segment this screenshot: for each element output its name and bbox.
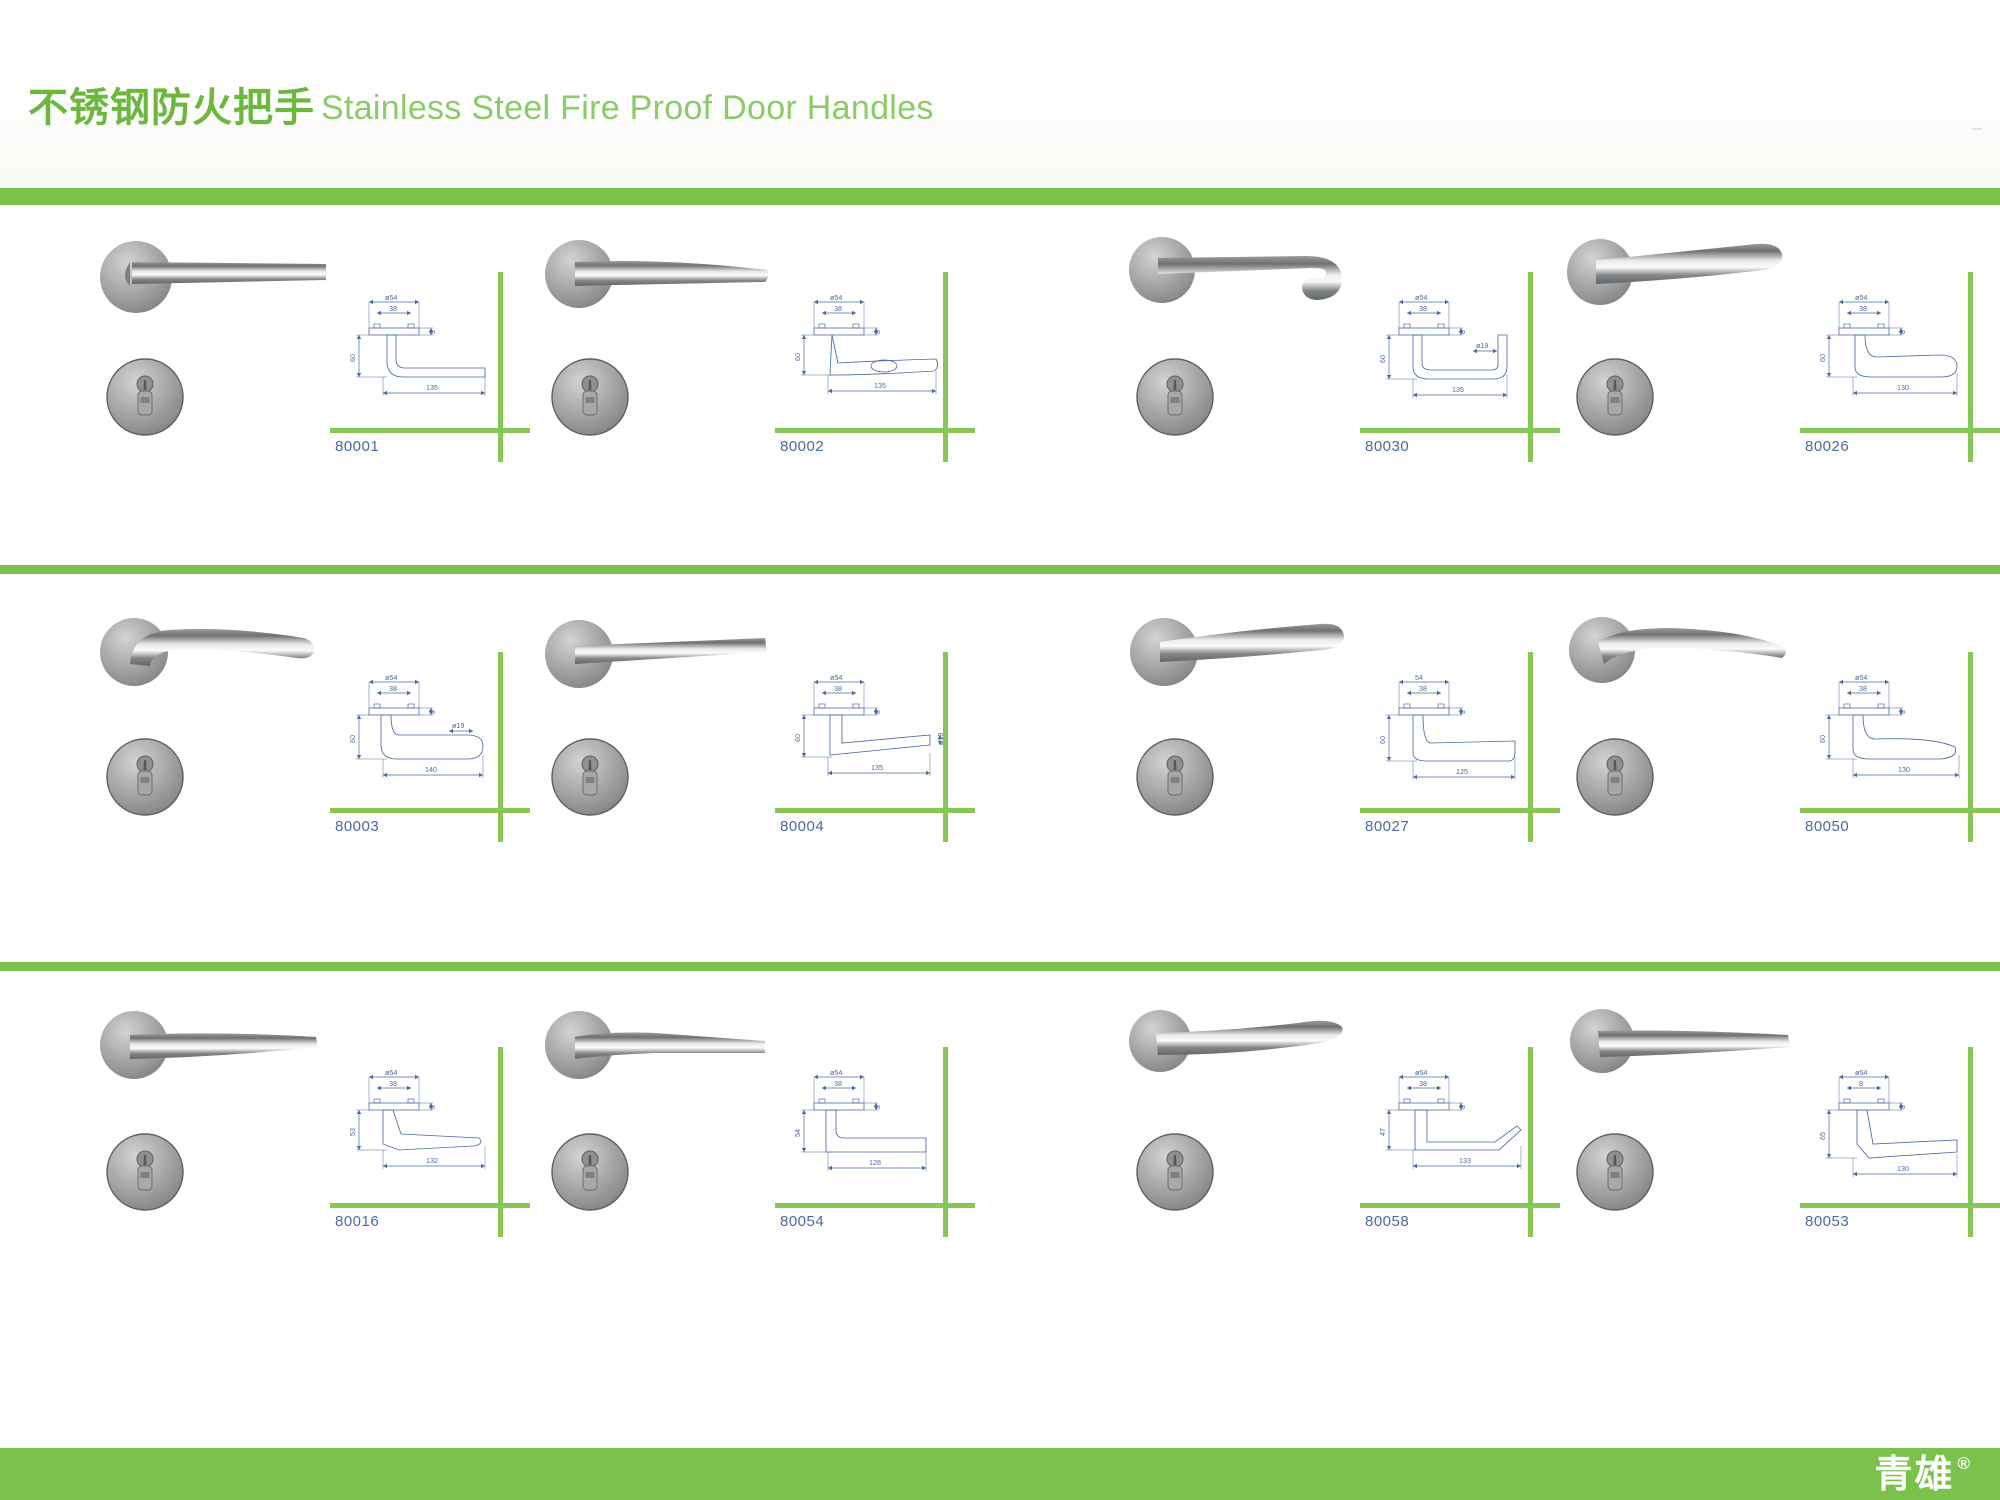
svg-text:8: 8 <box>1458 330 1467 334</box>
svg-text:140: 140 <box>425 765 437 774</box>
door-handle-lever-photo <box>90 602 330 712</box>
product-photo-group <box>1560 602 1800 832</box>
technical-drawing: ø548865130 <box>1805 1055 1980 1190</box>
svg-text:ø54: ø54 <box>385 1068 397 1077</box>
product-model-number: 80003 <box>335 818 379 835</box>
product-photo-group <box>90 997 330 1227</box>
product-card[interactable]: ø543886013080026 <box>1500 200 2000 580</box>
door-handle-lever-photo <box>535 997 775 1107</box>
svg-text:8: 8 <box>873 710 882 714</box>
product-model-number: 80050 <box>1805 818 1849 835</box>
registered-trademark-icon: ® <box>1957 1454 1970 1474</box>
product-photo-group <box>1560 997 1800 1227</box>
keyhole-escutcheon-photo <box>1120 722 1240 832</box>
svg-text:60: 60 <box>1378 355 1387 363</box>
svg-text:135: 135 <box>871 763 883 772</box>
keyhole-escutcheon-photo <box>1560 722 1680 832</box>
technical-drawing: ø5438860130 <box>1805 660 1980 795</box>
product-photo-group <box>535 997 775 1227</box>
svg-text:38: 38 <box>1419 304 1427 313</box>
drawing-frame-horizontal-rule <box>1800 808 2000 813</box>
svg-text:8: 8 <box>1458 710 1467 714</box>
technical-drawing: ø5438860135ø19 <box>780 660 955 795</box>
product-photo-group <box>535 602 775 832</box>
product-model-number: 80053 <box>1805 1213 1849 1230</box>
svg-text:ø54: ø54 <box>1415 293 1427 302</box>
svg-text:ø54: ø54 <box>830 293 842 302</box>
svg-text:133: 133 <box>1459 1156 1471 1165</box>
svg-text:60: 60 <box>793 734 802 742</box>
header-tick-mark <box>1972 128 1982 130</box>
product-photo-group <box>1560 222 1800 452</box>
drawing-frame-horizontal-rule <box>775 808 975 813</box>
product-model-number: 80030 <box>1365 438 1409 455</box>
svg-text:60: 60 <box>1818 354 1827 362</box>
svg-text:54: 54 <box>793 1129 802 1137</box>
product-row-1: ø543886013580001 <box>0 200 2000 580</box>
product-photo-group <box>90 602 330 832</box>
product-photo-group <box>535 222 775 452</box>
svg-text:ø54: ø54 <box>1855 1068 1867 1077</box>
product-card[interactable]: ø543886013080050 <box>1500 580 2000 960</box>
svg-text:130: 130 <box>1897 1164 1909 1173</box>
svg-text:135: 135 <box>874 381 886 390</box>
keyhole-escutcheon-photo <box>535 722 655 832</box>
product-card[interactable]: ø54388 6013580002 <box>475 200 975 580</box>
product-card[interactable]: ø543884713380058 <box>1060 975 1560 1355</box>
row-separator-2 <box>0 962 2000 971</box>
svg-text:54: 54 <box>1415 673 1423 682</box>
keyhole-escutcheon-photo <box>90 722 210 832</box>
page-title-chinese: 不锈钢防火把手 <box>28 86 315 130</box>
svg-text:60: 60 <box>793 353 802 361</box>
svg-text:8: 8 <box>873 1105 882 1109</box>
door-handle-lever-photo <box>1120 997 1360 1107</box>
product-card[interactable]: ø543886013580001 <box>30 200 530 580</box>
drawing-frame-vertical-rule <box>1968 272 1973 462</box>
drawing-frame-vertical-rule <box>1968 652 1973 842</box>
product-card[interactable]: ø5438860135ø1980004 <box>475 580 975 960</box>
svg-text:125: 125 <box>1456 767 1468 776</box>
technical-drawing: ø5438860130 <box>1805 280 1980 415</box>
page-footer <box>0 1448 2000 1500</box>
product-card[interactable]: ø5438860135ø1980030 <box>1060 200 1560 580</box>
product-card[interactable]: ø54886513080053 <box>1500 975 2000 1355</box>
product-model-number: 80027 <box>1365 818 1409 835</box>
svg-text:60: 60 <box>348 735 357 743</box>
page-title-english: Stainless Steel Fire Proof Door Handles <box>321 89 934 127</box>
svg-text:8: 8 <box>428 710 437 714</box>
product-card[interactable]: ø543885412880054 <box>475 975 975 1355</box>
brand-logo-text: 青雄 <box>1874 1455 1954 1493</box>
svg-text:38: 38 <box>389 1079 397 1088</box>
svg-text:65: 65 <box>1818 1132 1827 1140</box>
product-row-3: ø543885313280016 <box>0 975 2000 1355</box>
product-model-number: 80026 <box>1805 438 1849 455</box>
door-handle-lever-photo <box>535 222 775 332</box>
product-card[interactable]: ø5438860140ø1980003 <box>30 580 530 960</box>
product-photo-group <box>1120 222 1360 452</box>
svg-text:38: 38 <box>1859 684 1867 693</box>
svg-text:ø19: ø19 <box>1476 341 1488 350</box>
svg-text:ø54: ø54 <box>1855 673 1867 682</box>
drawing-frame-horizontal-rule <box>1800 428 2000 433</box>
svg-text:60: 60 <box>1818 735 1827 743</box>
svg-text:ø54: ø54 <box>830 1068 842 1077</box>
keyhole-escutcheon-photo <box>90 1117 210 1227</box>
svg-text:ø54: ø54 <box>385 673 397 682</box>
svg-text:8: 8 <box>428 330 437 334</box>
keyhole-escutcheon-photo <box>1560 342 1680 452</box>
svg-text:135: 135 <box>426 383 438 392</box>
svg-text:60: 60 <box>1378 736 1387 744</box>
svg-text:8: 8 <box>1859 1079 1863 1088</box>
svg-text:8: 8 <box>1898 1105 1907 1109</box>
keyhole-escutcheon-photo <box>535 342 655 452</box>
svg-text:ø54: ø54 <box>1855 293 1867 302</box>
product-card[interactable]: ø543885313280016 <box>30 975 530 1355</box>
svg-text:60: 60 <box>348 354 357 362</box>
product-model-number: 80004 <box>780 818 824 835</box>
svg-text:ø19: ø19 <box>452 721 464 730</box>
product-model-number: 80016 <box>335 1213 379 1230</box>
technical-drawing: ø5438854128 <box>780 1055 955 1190</box>
svg-text:38: 38 <box>389 304 397 313</box>
svg-text:38: 38 <box>1419 1079 1427 1088</box>
product-model-number: 80002 <box>780 438 824 455</box>
svg-text:38: 38 <box>834 1079 842 1088</box>
page-title: 不锈钢防火把手Stainless Steel Fire Proof Door H… <box>28 88 934 128</box>
product-model-number: 80058 <box>1365 1213 1409 1230</box>
svg-text:ø54: ø54 <box>830 673 842 682</box>
technical-drawing: ø54388 60135 <box>780 280 955 415</box>
svg-text:8: 8 <box>873 330 882 334</box>
drawing-frame-vertical-rule <box>943 1047 948 1237</box>
brand-logo: 青雄 ® <box>1874 1452 1970 1496</box>
door-handle-lever-photo <box>1560 222 1800 332</box>
door-handle-lever-photo <box>1560 602 1800 712</box>
door-handle-lever-photo <box>1120 222 1360 332</box>
svg-text:38: 38 <box>834 304 842 313</box>
svg-text:8: 8 <box>1898 710 1907 714</box>
svg-text:130: 130 <box>1897 383 1909 392</box>
svg-text:38: 38 <box>1419 684 1427 693</box>
door-handle-lever-photo <box>90 997 330 1107</box>
keyhole-escutcheon-photo <box>90 342 210 452</box>
drawing-frame-horizontal-rule <box>1800 1203 2000 1208</box>
svg-text:38: 38 <box>834 684 842 693</box>
keyhole-escutcheon-photo <box>1120 1117 1240 1227</box>
product-model-number: 80054 <box>780 1213 824 1230</box>
svg-text:38: 38 <box>1859 304 1867 313</box>
drawing-frame-horizontal-rule <box>775 1203 975 1208</box>
svg-text:47: 47 <box>1378 1128 1387 1136</box>
keyhole-escutcheon-photo <box>535 1117 655 1227</box>
door-handle-lever-photo <box>90 222 330 332</box>
svg-text:130: 130 <box>1898 765 1910 774</box>
drawing-frame-vertical-rule <box>943 272 948 462</box>
svg-text:ø54: ø54 <box>1415 1068 1427 1077</box>
svg-text:132: 132 <box>426 1156 438 1165</box>
keyhole-escutcheon-photo <box>1120 342 1240 452</box>
door-handle-lever-photo <box>1560 997 1800 1107</box>
page-header: 不锈钢防火把手Stainless Steel Fire Proof Door H… <box>0 0 2000 190</box>
product-photo-group <box>1120 997 1360 1227</box>
door-handle-lever-photo <box>535 602 775 712</box>
svg-text:ø54: ø54 <box>385 293 397 302</box>
svg-text:8: 8 <box>1898 330 1907 334</box>
svg-text:135: 135 <box>1452 385 1464 394</box>
product-photo-group <box>1120 602 1360 832</box>
svg-text:53: 53 <box>348 1128 357 1136</box>
door-handle-lever-photo <box>1120 602 1360 712</box>
product-card[interactable]: 543886012580027 <box>1060 580 1560 960</box>
product-row-2: ø5438860140ø1980003 <box>0 580 2000 960</box>
svg-text:8: 8 <box>1458 1105 1467 1109</box>
drawing-frame-horizontal-rule <box>775 428 975 433</box>
product-model-number: 80001 <box>335 438 379 455</box>
drawing-frame-vertical-rule <box>1968 1047 1973 1237</box>
product-photo-group <box>90 222 330 452</box>
svg-text:8: 8 <box>428 1105 437 1109</box>
svg-text:128: 128 <box>869 1158 881 1167</box>
svg-text:38: 38 <box>389 684 397 693</box>
drawing-frame-vertical-rule <box>943 652 948 842</box>
keyhole-escutcheon-photo <box>1560 1117 1680 1227</box>
